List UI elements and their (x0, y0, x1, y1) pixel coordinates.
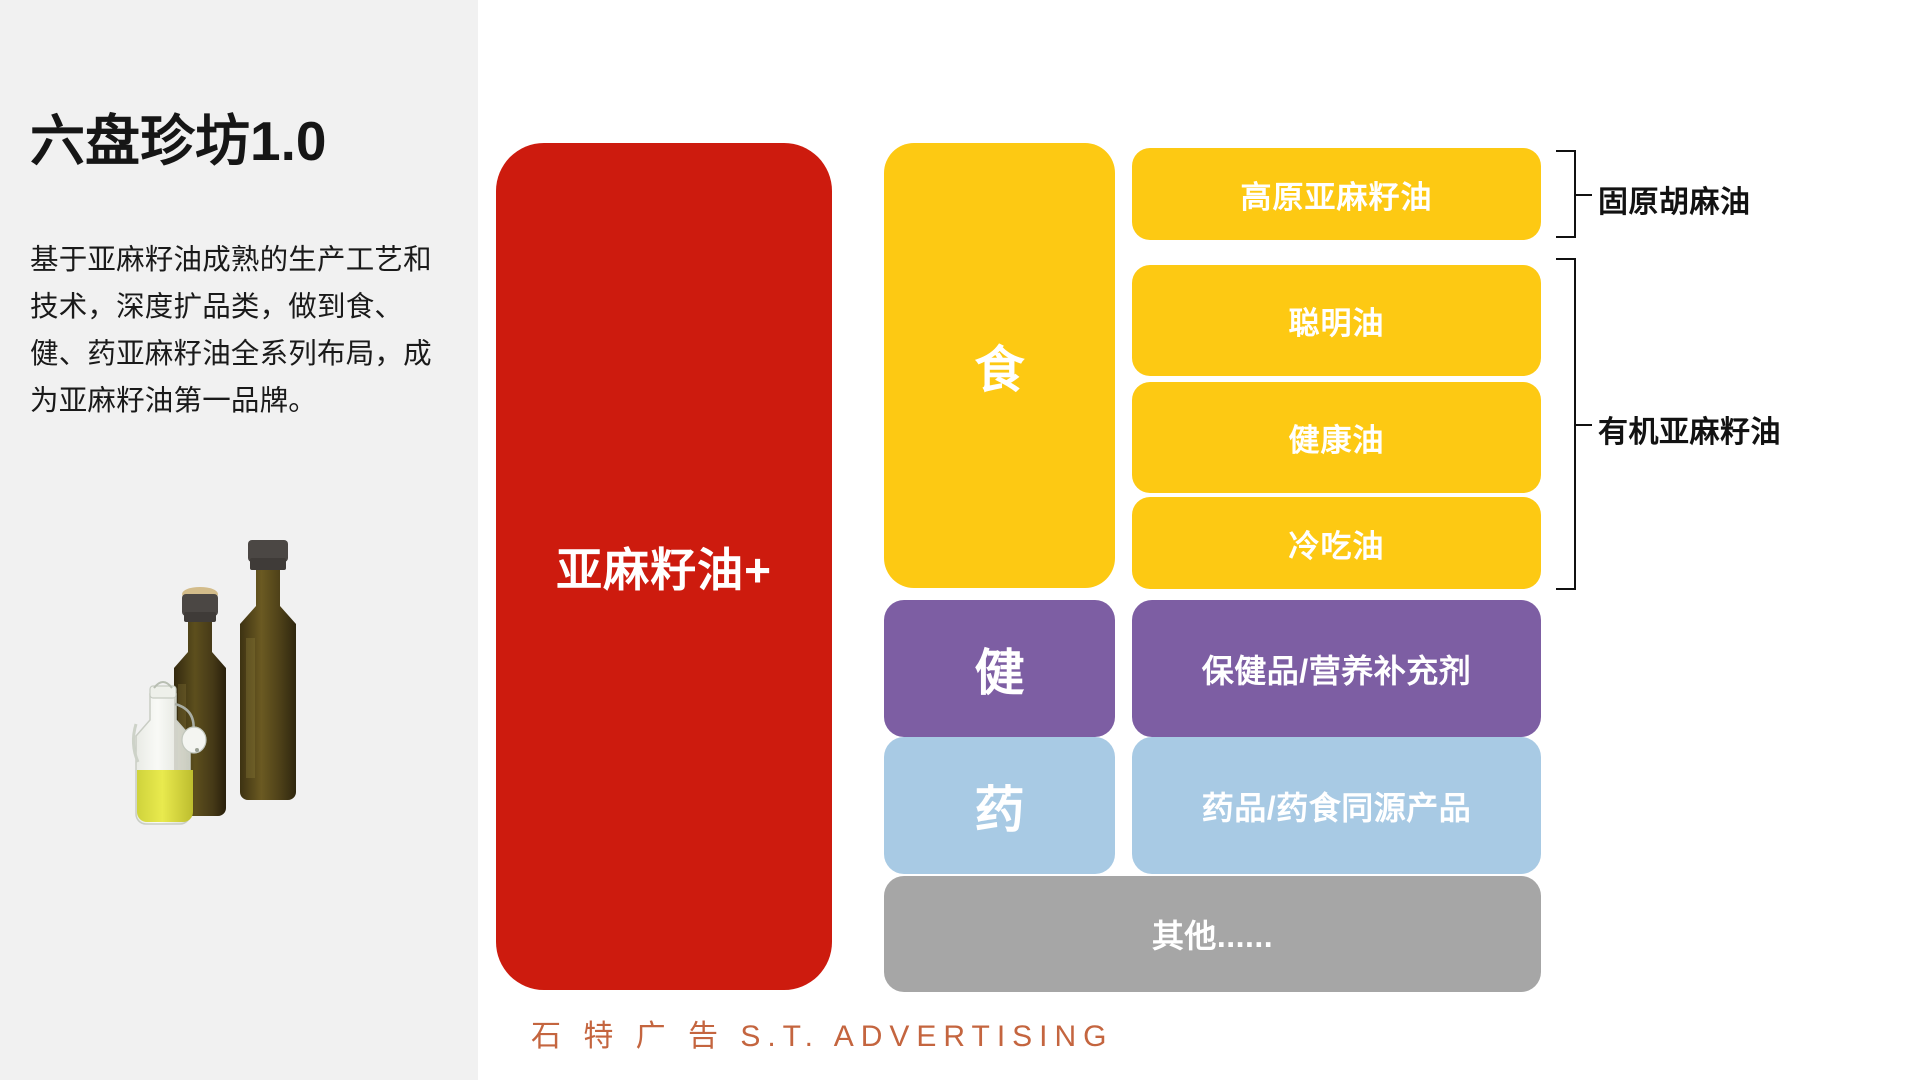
bracket-top-tick (1576, 194, 1592, 196)
bracket-bottom-shape (1556, 258, 1576, 590)
diagram-product-health-supplements[interactable]: 保健品/营养补充剂 (1132, 600, 1541, 737)
slide-canvas: 六盘珍坊1.0 基于亚麻籽油成熟的生产工艺和技术，深度扩品类，做到食、健、药亚麻… (0, 0, 1920, 1080)
bracket-label-guyuan-hemp-oil: 固原胡麻油 (1598, 177, 1751, 221)
bracket-label-organic-flaxseed-oil: 有机亚麻籽油 (1598, 407, 1781, 451)
bracket-bottom-tick (1576, 424, 1592, 426)
diagram-product-plateau-flaxseed-oil[interactable]: 高原亚麻籽油 (1132, 148, 1541, 240)
diagram-product-smart-oil[interactable]: 聪明油 (1132, 265, 1541, 376)
diagram-category-medicine[interactable]: 药 (884, 737, 1115, 874)
diagram-category-food[interactable]: 食 (884, 143, 1115, 588)
diagram-product-other[interactable]: 其他...... (884, 876, 1541, 992)
bracket-top-shape (1556, 150, 1576, 238)
diagram-product-medicine[interactable]: 药品/药食同源产品 (1132, 737, 1541, 874)
diagram-root-node[interactable]: 亚麻籽油+ (496, 143, 832, 990)
footer-agency-credit: 石 特 广 告 S.T. ADVERTISING (531, 1011, 1114, 1055)
diagram-product-health-oil[interactable]: 健康油 (1132, 382, 1541, 493)
diagram-category-health[interactable]: 健 (884, 600, 1115, 737)
product-hierarchy-diagram: 亚麻籽油+ 食 健 药 高原亚麻籽油 聪明油 健康油 冷吃油 保健品/营养补充剂… (0, 0, 1920, 1080)
diagram-product-cold-eat-oil[interactable]: 冷吃油 (1132, 497, 1541, 589)
